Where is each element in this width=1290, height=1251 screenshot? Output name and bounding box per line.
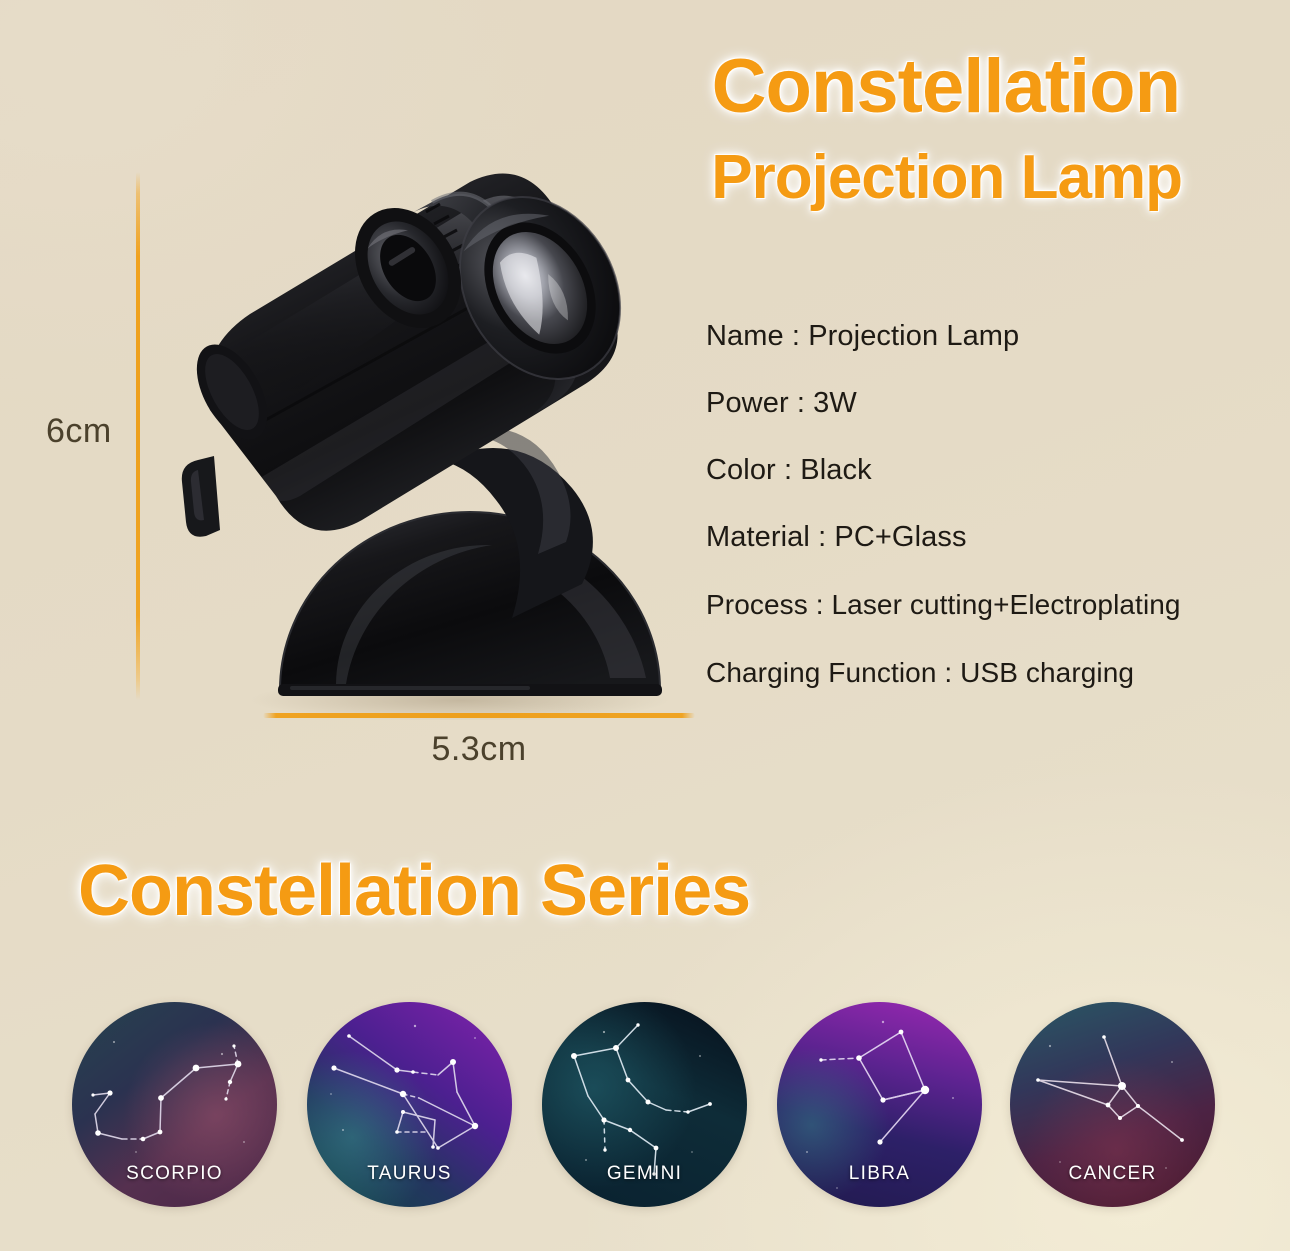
constellation-item-scorpio[interactable]: SCORPIO: [72, 1002, 277, 1207]
spec-text: Material : PC+Glass: [706, 521, 967, 553]
hero-title-line2: Projection Lamp: [711, 143, 1182, 213]
series-title: Constellation Series: [78, 848, 750, 934]
lamp-base: [278, 512, 662, 696]
spec-row-color: Color : Black: [706, 437, 1266, 504]
spec-row-power: Power : 3W: [706, 370, 1266, 437]
spec-row-name: Name : Projection Lamp: [706, 303, 1266, 370]
product-infographic: Constellation Projection Lamp: [0, 0, 1290, 1251]
constellation-item-cancer[interactable]: CANCER: [1010, 1002, 1215, 1207]
spec-text: Charging Function : USB charging: [706, 657, 1134, 688]
constellation-item-taurus[interactable]: TAURUS: [307, 1002, 512, 1207]
spec-text: Color : Black: [706, 454, 872, 486]
constellation-item-gemini[interactable]: GEMINI: [542, 1002, 747, 1207]
spec-row-process: Process : Laser cutting+Electroplating: [706, 571, 1266, 639]
constellation-disc-cancer: [1010, 1002, 1215, 1207]
spec-text: Process : Laser cutting+Electroplating: [706, 589, 1181, 620]
height-dimension-line: [136, 172, 140, 700]
constellation-series-row: SCORPIO: [0, 1002, 1290, 1234]
constellation-item-libra[interactable]: LIBRA: [777, 1002, 982, 1207]
width-dimension-line: [263, 713, 695, 718]
spec-row-charging-function: Charging Function : USB charging: [706, 639, 1266, 707]
hero-title-line1: Constellation: [712, 46, 1180, 128]
spec-text: Name : Projection Lamp: [706, 320, 1019, 352]
constellation-disc-libra: [777, 1002, 982, 1207]
width-dimension-label: 5.3cm: [263, 730, 695, 769]
spec-row-material: Material : PC+Glass: [706, 504, 1266, 571]
product-photo: [140, 160, 700, 720]
spec-text: Power : 3W: [706, 387, 857, 419]
lamp-switch: [182, 456, 220, 537]
constellation-disc-taurus: [307, 1002, 512, 1207]
height-dimension-label: 6cm: [46, 412, 112, 451]
spec-list: Name : Projection Lamp Power : 3W Color …: [706, 303, 1266, 707]
constellation-disc-gemini: [542, 1002, 747, 1207]
constellation-disc-scorpio: [72, 1002, 277, 1207]
